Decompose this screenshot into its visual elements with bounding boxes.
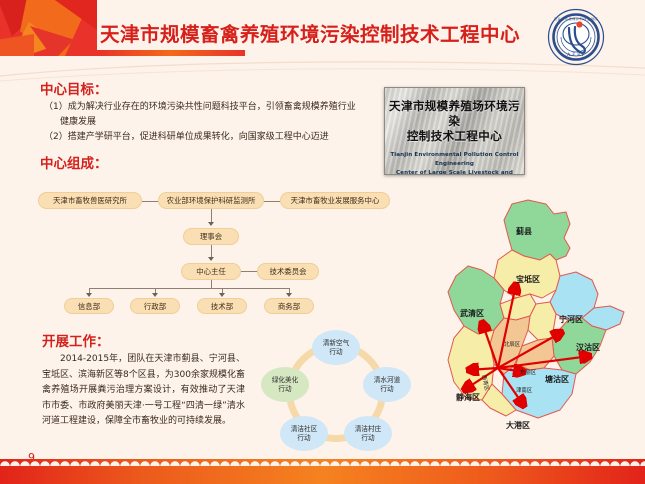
header-decoration-graphic [0,0,97,56]
org-node-tech-committee: 技术委员会 [257,263,319,280]
org-arrow [219,293,225,297]
action-label: 清新空气 [323,339,349,347]
composition-section-heading: 中心组成： [40,152,108,172]
map-label-dagang: 大港区 [506,420,530,431]
org-node-dept-1: 信息部 [64,298,114,314]
org-node-institute-1: 天津市畜牧兽医研究所 [38,192,142,209]
org-node-dept-3: 技术部 [197,298,247,314]
action-label: 行动 [278,385,291,393]
aepi-institute-logo: AEPI 农业部环境保护科研监测所 [547,8,605,66]
action-node-clean-river: 清水河道 行动 [363,367,411,402]
plaque-cn-line-2: 控制技术工程中心 [385,129,524,144]
action-node-fresh-air: 清新空气 行动 [312,330,360,365]
tianjin-district-map: 蓟县 宝坻区 武清区 宁河区 汉沽区 塘沽区 大港区 静海区 北辰区 东丽区 津… [420,198,642,456]
map-label-wuqing: 武清区 [460,308,484,319]
header-accent-bar [97,50,245,56]
center-plaque-photo: 天津市规模养殖场环境污染 控制技术工程中心 Tianjin Environmen… [384,87,525,175]
org-arrow [208,222,214,226]
goal-section-heading: 中心目标： [40,78,108,98]
map-label-jinghai: 静海区 [456,392,480,403]
action-node-greening: 绿化美化 行动 [261,367,309,402]
org-arrow [208,257,214,261]
action-node-clean-village: 清洁村庄 行动 [344,416,392,451]
org-connector [211,280,212,288]
action-label: 行动 [297,434,310,442]
map-label-jixian: 蓟县 [516,226,532,237]
org-node-dept-4: 商务部 [264,298,314,314]
plaque-cn-line-1: 天津市规模养殖场环境污染 [385,99,524,129]
map-label-hangu: 汉沽区 [576,342,600,353]
organization-chart: 天津市畜牧兽医研究所 农业部环境保护科研监测所 天津市畜牧业发展服务中心 理事会… [38,192,398,310]
org-connector [241,271,257,272]
goal-line-1: （1）成为解决行业存在的环境污染共性问题科技平台，引领畜禽规模养殖行业 [44,100,384,115]
page-title: 天津市规模畜禽养殖环境污染控制技术工程中心 [100,18,520,47]
map-label-beichen: 北辰区 [504,340,520,348]
action-node-clean-community: 清洁社区 行动 [280,416,328,451]
map-label-dongli: 东丽区 [520,368,536,376]
map-label-jinnan: 津南区 [516,386,532,394]
org-node-institute-3: 天津市畜牧业发展服务中心 [280,192,390,209]
action-label: 行动 [380,385,393,393]
action-label: 清水河道 [374,376,400,384]
org-node-institute-2: 农业部环境保护科研监测所 [158,192,264,209]
five-actions-diagram: 清新空气 行动 清水河道 行动 清洁村庄 行动 清洁社区 行动 绿化美化 行动 [258,330,418,456]
action-label: 行动 [361,434,374,442]
org-connector-bus [89,288,289,289]
work-section-heading: 开展工作： [42,330,110,350]
work-paragraph: 2014-2015年，团队在天津市蓟县、宁河县、宝坻区、滨海新区等8个区县，为3… [42,352,245,430]
footer-bar [0,466,645,484]
slide: 天津市规模畜禽养殖环境污染控制技术工程中心 AEPI 农业部环境保护科研监测所 … [0,0,645,484]
plaque-en-line-2: Center of Large Scale Livestock and Poul… [385,169,524,175]
map-label-ninghe: 宁河区 [559,314,583,325]
action-label: 行动 [329,348,342,356]
goal-line-2: 健康发展 [60,115,400,130]
action-label: 清洁村庄 [355,425,381,433]
org-connector [264,201,280,202]
org-arrow [152,293,158,297]
org-connector [142,201,158,202]
svg-text:农业部环境保护科研监测所: 农业部环境保护科研监测所 [554,16,598,21]
goal-line-3: （2）搭建产学研平台，促进科研单位成果转化，向国家级工程中心迈进 [44,130,384,145]
plaque-en-line-1: Tianjin Environmental Pollution Control … [385,151,524,169]
org-arrow [86,293,92,297]
action-label: 清洁社区 [291,425,317,433]
org-arrow [286,293,292,297]
action-label: 绿化美化 [272,376,298,384]
map-label-baodi: 宝坻区 [516,274,540,285]
org-node-director: 中心主任 [181,263,241,280]
map-label-tanggu: 塘沽区 [545,374,569,385]
org-node-dept-2: 行政部 [130,298,180,314]
footer-scallop [0,459,645,466]
org-node-board: 理事会 [183,228,239,245]
logo-text: AEPI [567,52,585,58]
